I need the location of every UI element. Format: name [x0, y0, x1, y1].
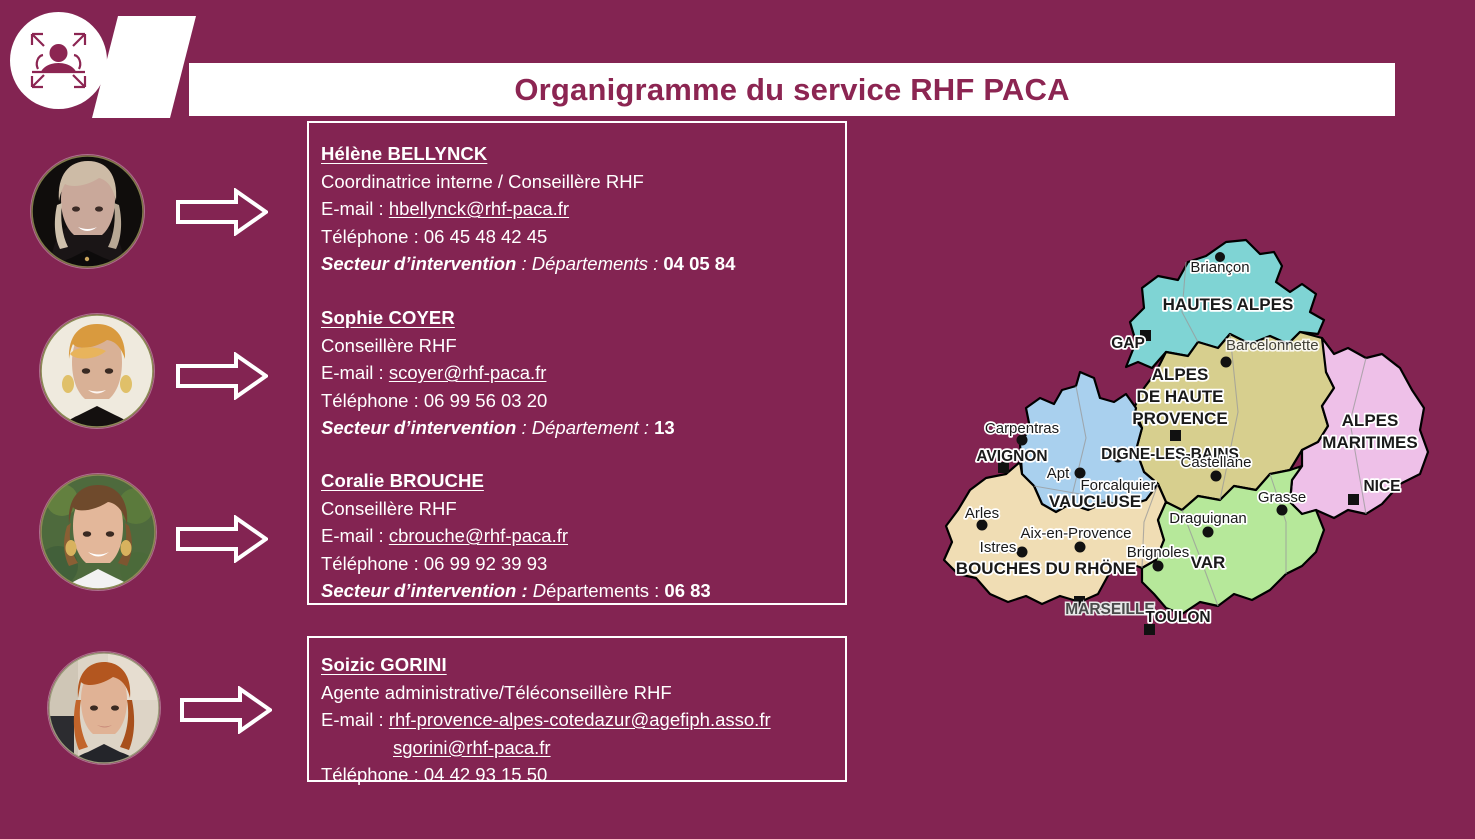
- logo-slash-shape: [92, 16, 196, 118]
- contact-sector-line: Secteur d’intervention : Départements : …: [321, 577, 835, 605]
- map-city-dot-castellane: [1211, 471, 1222, 482]
- contact-phone: 04 42 93 15 50: [424, 764, 547, 785]
- contact-phone-line: Téléphone : 06 99 56 03 20: [321, 387, 835, 415]
- map-label-hautes-alpes: HAUTES ALPES: [1163, 295, 1294, 314]
- map-city-dot-grasse: [1277, 505, 1288, 516]
- map-city-dot-brignoles: [1153, 561, 1164, 572]
- sector-kind: Département :: [532, 417, 654, 438]
- map-city-dot-draguignan: [1203, 527, 1214, 538]
- map-label-barcelonnette: Barcelonnette: [1226, 337, 1319, 354]
- phone-label: Téléphone :: [321, 390, 424, 411]
- contact-phone: 06 99 56 03 20: [424, 390, 547, 411]
- page-title: Organigramme du service RHF PACA: [514, 72, 1069, 108]
- sector-kind: Départements :: [532, 253, 664, 274]
- sector-value: 06 83: [664, 580, 710, 601]
- map-city-dot-istres: [1017, 547, 1028, 558]
- map-label-bouches-du-rhone: BOUCHES DU RHÖNE: [956, 559, 1136, 578]
- map-city-dot-barcelonnette: [1221, 357, 1232, 368]
- photo-soizic-gorini: [48, 652, 160, 764]
- email-label: E-mail :: [321, 709, 389, 730]
- contact-box-secondary: Soizic GORINI Agente administrative/Télé…: [307, 636, 847, 782]
- contact-card: Sophie COYER Conseillère RHF E-mail : sc…: [321, 304, 835, 442]
- email-label: E-mail :: [321, 525, 389, 546]
- contact-phone: 06 99 92 39 93: [424, 553, 547, 574]
- map-pref-dot-nice: [1348, 494, 1359, 505]
- contact-phone: 06 45 48 42 45: [424, 226, 547, 247]
- contact-email[interactable]: cbrouche@rhf-paca.fr: [389, 525, 568, 546]
- sector-value: 04 05 84: [663, 253, 735, 274]
- avatar: [48, 652, 160, 764]
- map-label-avignon: AVIGNON: [976, 448, 1047, 465]
- contact-role: Agente administrative/Téléconseillère RH…: [321, 679, 835, 707]
- contact-role: Conseillère RHF: [321, 332, 835, 360]
- sector-label: Secteur d’intervention: [321, 417, 516, 438]
- contact-email[interactable]: rhf-provence-alpes-cotedazur@agefiph.ass…: [389, 709, 771, 730]
- email-label: E-mail :: [321, 198, 389, 219]
- map-label-carpentras: Carpentras: [985, 420, 1059, 437]
- email-label: E-mail :: [321, 362, 389, 383]
- paca-region-map: Briançon HAUTES ALPES GAP Barcelonnette …: [930, 222, 1470, 672]
- contact-role: Coordinatrice interne / Conseillère RHF: [321, 168, 835, 196]
- contact-sector-line: Secteur d’intervention : Département : 1…: [321, 414, 835, 442]
- contact-name: Coralie BROUCHE: [321, 467, 484, 495]
- map-label-apt: Apt: [1047, 465, 1070, 482]
- map-label-ahp-2: DE HAUTE: [1137, 387, 1224, 406]
- sector-kind-italic: D: [533, 580, 546, 601]
- contact-card: Soizic GORINI Agente administrative/Télé…: [321, 651, 835, 789]
- map-label-toulon: TOULON: [1145, 609, 1210, 626]
- map-label-castellane: Castellane: [1181, 454, 1252, 471]
- map-label-var: VAR: [1191, 553, 1226, 572]
- photo-coralie-brouche: [40, 474, 156, 590]
- contact-email-line: E-mail : cbrouche@rhf-paca.fr: [321, 522, 835, 550]
- contact-name: Hélène BELLYNCK: [321, 140, 487, 168]
- map-label-vaucluse: VAUCLUSE: [1049, 492, 1141, 511]
- avatar: [40, 314, 154, 428]
- phone-label: Téléphone :: [321, 226, 424, 247]
- page-title-bar: Organigramme du service RHF PACA: [189, 63, 1395, 116]
- phone-label: Téléphone :: [321, 764, 424, 785]
- contact-card: Coralie BROUCHE Conseillère RHF E-mail :…: [321, 467, 835, 605]
- sector-sep: :: [516, 417, 531, 438]
- contact-phone-line: Téléphone : 04 42 93 15 50: [321, 761, 835, 789]
- arrow-right-icon: [180, 686, 272, 734]
- arrow-right-icon: [176, 515, 268, 563]
- map-label-draguignan: Draguignan: [1169, 510, 1247, 527]
- contact-name: Sophie COYER: [321, 304, 455, 332]
- sector-label: Secteur d’intervention :: [321, 580, 528, 601]
- contact-email-line: E-mail : rhf-provence-alpes-cotedazur@ag…: [321, 706, 835, 734]
- map-city-dot-aix: [1075, 542, 1086, 553]
- contact-role: Conseillère RHF: [321, 495, 835, 523]
- sector-value: 13: [654, 417, 675, 438]
- contact-email-alt[interactable]: sgorini@rhf-paca.fr: [393, 737, 551, 758]
- map-label-ahp-1: ALPES: [1152, 365, 1209, 384]
- contact-phone-line: Téléphone : 06 45 48 42 45: [321, 223, 835, 251]
- slide-canvas: Organigramme du service RHF PACA: [0, 0, 1475, 839]
- contact-name: Soizic GORINI: [321, 651, 447, 679]
- contact-phone-line: Téléphone : 06 99 92 39 93: [321, 550, 835, 578]
- map-label-marseille: MARSEILLE: [1065, 601, 1155, 618]
- map-label-ahp-3: PROVENCE: [1132, 409, 1227, 428]
- map-label-istres: Istres: [980, 539, 1017, 556]
- contact-email-line: E-mail : scoyer@rhf-paca.fr: [321, 359, 835, 387]
- photo-helene-bellynck: [31, 155, 144, 268]
- sector-label: Secteur d’intervention: [321, 253, 516, 274]
- map-label-grasse: Grasse: [1258, 489, 1306, 506]
- contact-email[interactable]: hbellynck@rhf-paca.fr: [389, 198, 569, 219]
- contact-sector-line: Secteur d’intervention : Départements : …: [321, 250, 835, 278]
- contact-email-line-2: sgorini@rhf-paca.fr: [321, 734, 835, 762]
- map-label-aix: Aix-en-Provence: [1021, 525, 1132, 542]
- arrow-right-icon: [176, 352, 268, 400]
- map-label-gap: GAP: [1111, 335, 1145, 352]
- contact-email[interactable]: scoyer@rhf-paca.fr: [389, 362, 547, 383]
- map-pref-dot-digne: [1170, 430, 1181, 441]
- map-label-nice: NICE: [1363, 478, 1400, 495]
- phone-label: Téléphone :: [321, 553, 424, 574]
- contact-box-primary: Hélène BELLYNCK Coordinatrice interne / …: [307, 121, 847, 605]
- map-label-briancon: Briançon: [1190, 259, 1249, 276]
- sector-kind: épartements :: [546, 580, 664, 601]
- sector-sep: :: [516, 253, 531, 274]
- contact-card: Hélène BELLYNCK Coordinatrice interne / …: [321, 140, 835, 278]
- map-label-arles: Arles: [965, 505, 999, 522]
- map-label-brignoles: Brignoles: [1127, 544, 1190, 561]
- avatar: [40, 474, 156, 590]
- map-label-alpes-maritimes-2: MARITIMES: [1322, 433, 1417, 452]
- arrow-right-icon: [176, 188, 268, 236]
- map-label-alpes-maritimes-1: ALPES: [1342, 411, 1399, 430]
- photo-sophie-coyer: [40, 314, 154, 428]
- contact-email-line: E-mail : hbellynck@rhf-paca.fr: [321, 195, 835, 223]
- avatar: [31, 155, 144, 268]
